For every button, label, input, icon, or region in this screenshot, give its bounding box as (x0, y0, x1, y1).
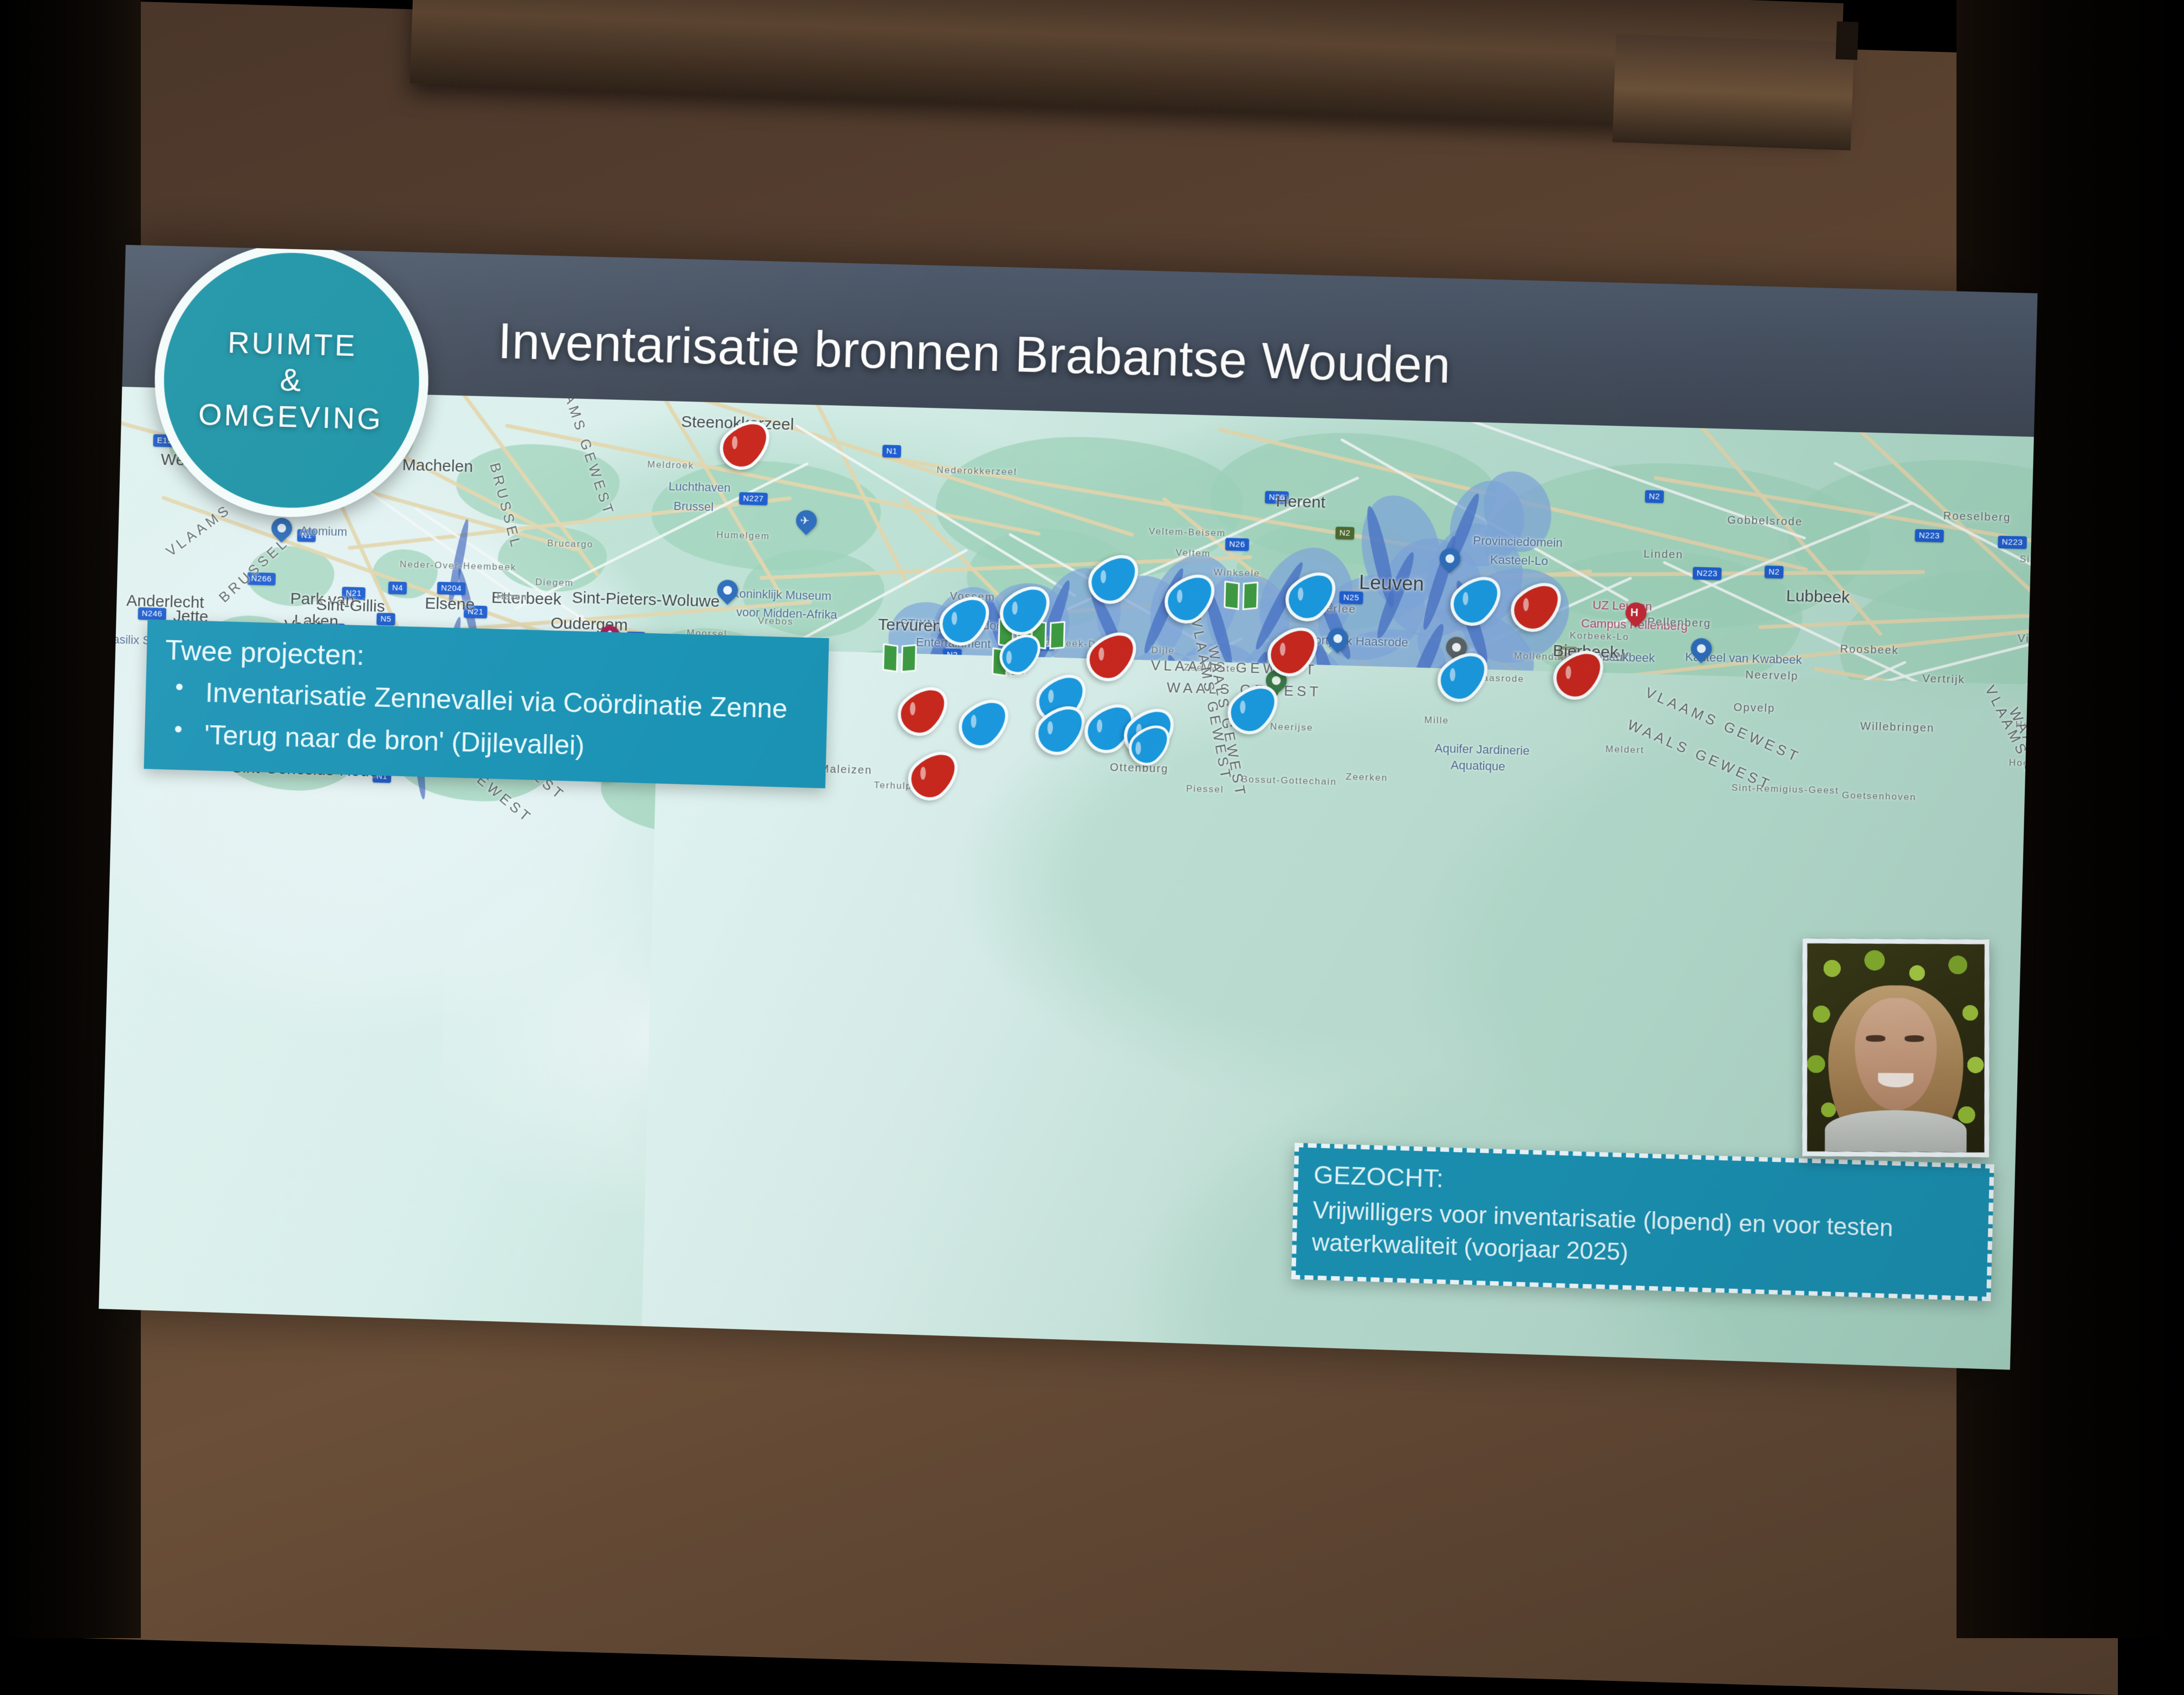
map-label: Pellenberg (1647, 616, 1711, 630)
wanted-callout-body: Vrijwilligers voor inventarisatie (lopen… (1311, 1195, 1973, 1280)
projects-callout-box: Twee projecten: Inventarisatie Zennevall… (144, 619, 829, 788)
map-label: Willebringen (1860, 720, 1935, 735)
map-label: Lubbeek (1786, 587, 1850, 607)
highway-shield: N227 (739, 492, 768, 505)
map-label: Machelen (402, 456, 473, 477)
map-label: Veltem-Beisem (1149, 526, 1226, 539)
map-label: Kasteel-Lo (1490, 553, 1549, 568)
map-label: Korbeek-Lo (1570, 630, 1629, 642)
map-label: Roeselberg (1943, 510, 2011, 525)
highway-shield: N4 (388, 581, 407, 594)
map-label: Neerijse (1270, 722, 1314, 733)
map-label: Brucargo (547, 538, 594, 550)
room-scene: E19N209N260N21N1N21N227N2N21N26N2N26N2N2… (0, 0, 2184, 1638)
portrait-smile (1878, 1073, 1913, 1087)
book-icon[interactable] (1224, 581, 1258, 609)
logo-ampersand: & (279, 361, 303, 399)
highway-shield: N223 (1915, 529, 1944, 543)
map-label: Brussel (673, 499, 714, 514)
map-label: Diegem (535, 577, 574, 589)
map-label: Goetsenhoven (1842, 790, 1916, 803)
map-label: Tervuren (878, 615, 942, 635)
map-label: Piessel (1186, 783, 1224, 795)
map-label: Roosbeek (1840, 643, 1899, 657)
portrait-scarf (1825, 1110, 1967, 1152)
portrait-eye-right (1904, 1035, 1924, 1042)
logo-line-2: OMGEVING (198, 397, 383, 437)
map-label: Opvelp (1733, 702, 1775, 715)
map-label: Mille (1424, 715, 1449, 726)
map-label: Koninklijk Museum (731, 587, 831, 603)
map-label: Winksele (1213, 567, 1260, 579)
highway-shield: N1 (882, 445, 901, 458)
map-label: Provinciedomein (1473, 534, 1563, 550)
highway-shield: N223 (1998, 536, 2027, 549)
list-item: 'Terug naar de bron' (Dijlevallei) (170, 717, 808, 769)
map-label: Anderlecht (126, 592, 204, 612)
portrait-eye-left (1865, 1035, 1885, 1042)
map-label: Veltem (1175, 548, 1211, 560)
logo-line-1: RUIMTE (227, 324, 357, 363)
highway-shield: N2 (1765, 566, 1784, 579)
map-label: Zeerken (1345, 771, 1388, 783)
map-label: Leuven (1358, 571, 1424, 596)
map-label: Haren (497, 591, 528, 603)
map-label: Luchthaven (668, 479, 731, 495)
highway-shield: N204 (437, 582, 466, 595)
avatar (1802, 938, 1990, 1157)
map-label: Nederokkerzeel (937, 465, 1017, 478)
map-label: Linden (1643, 548, 1683, 562)
highway-shield: N223 (1693, 567, 1721, 580)
map-label: Vrebos (758, 615, 794, 627)
map-label: Aquatique (1451, 758, 1505, 774)
map-label: Neervelp (1745, 669, 1799, 683)
highway-shield: N2 (1645, 490, 1664, 503)
highway-shield: N2 (1335, 527, 1354, 540)
book-icon[interactable] (882, 644, 917, 672)
map-label: Dijle (1151, 645, 1175, 657)
map-label: Maleizen (820, 763, 872, 777)
map-label: Sint-Gillis (316, 596, 385, 616)
presentation-slide: E19N209N260N21N1N21N227N2N21N26N2N26N2N2… (99, 245, 2037, 1370)
map-label: Humelgem (716, 530, 770, 542)
map-label: Meldroek (647, 459, 694, 471)
projection-screen-bracket (1836, 21, 1858, 60)
map-label: Atomium (300, 524, 348, 539)
map-label: Meldert (1605, 744, 1644, 756)
projects-bullet-list: Inventarisatie Zennevallei via Coördinat… (162, 674, 809, 769)
map-label: Vertrijk (1922, 673, 1965, 686)
map-label: Gobbelsrode (1727, 514, 1803, 529)
map-label: Elsene (425, 594, 475, 614)
map-label: Aquifer Jardinerie (1434, 741, 1530, 758)
map-label: Herent (1276, 492, 1325, 512)
highway-shield: N26 (1225, 538, 1249, 551)
projection-screen-roller-end (1613, 34, 1855, 150)
wanted-volunteers-callout-box: GEZOCHT: Vrijwilligers voor inventarisat… (1291, 1143, 1994, 1301)
